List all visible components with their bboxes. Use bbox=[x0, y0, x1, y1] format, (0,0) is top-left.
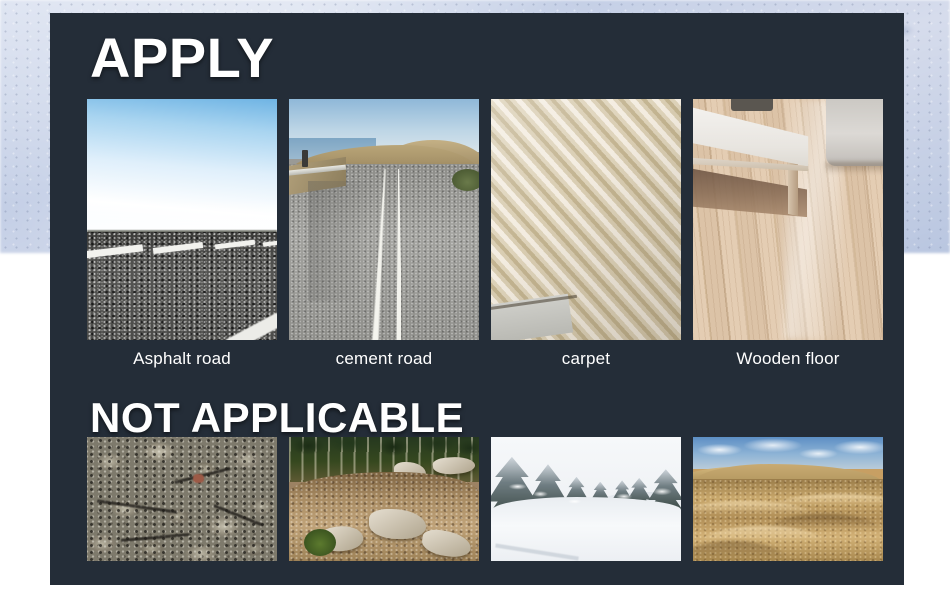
not-applicable-item-rocky-rubble[interactable] bbox=[87, 437, 277, 561]
carpet-photo[interactable] bbox=[491, 99, 681, 340]
apply-item-carpet[interactable]: carpet bbox=[491, 99, 681, 369]
not-applicable-heading: NOT APPLICABLE bbox=[90, 397, 464, 439]
apply-caption-carpet: carpet bbox=[491, 340, 681, 369]
not-applicable-item-sand-dunes[interactable] bbox=[693, 437, 883, 561]
apply-image-row: Asphalt road bbox=[87, 99, 883, 369]
apply-caption-asphalt-road: Asphalt road bbox=[87, 340, 277, 369]
dirt-terrain-photo[interactable] bbox=[289, 437, 479, 561]
apply-caption-cement-road: cement road bbox=[289, 340, 479, 369]
apply-caption-wooden-floor: Wooden floor bbox=[693, 340, 883, 369]
apply-item-wooden-floor[interactable]: Wooden floor bbox=[693, 99, 883, 369]
snowy-forest-photo[interactable] bbox=[491, 437, 681, 561]
sand-dunes-photo[interactable] bbox=[693, 437, 883, 561]
not-applicable-item-snowy-forest[interactable] bbox=[491, 437, 681, 561]
apply-item-asphalt-road[interactable]: Asphalt road bbox=[87, 99, 277, 369]
product-detail-banner: APPLY Asphalt road bbox=[0, 0, 950, 602]
apply-heading: APPLY bbox=[90, 30, 274, 86]
apply-item-cement-road[interactable]: cement road bbox=[289, 99, 479, 369]
wooden-floor-photo[interactable] bbox=[693, 99, 883, 340]
not-applicable-image-row bbox=[87, 437, 883, 561]
asphalt-road-photo[interactable] bbox=[87, 99, 277, 340]
cement-road-photo[interactable] bbox=[289, 99, 479, 340]
not-applicable-item-dirt-terrain[interactable] bbox=[289, 437, 479, 561]
dark-panel: APPLY Asphalt road bbox=[50, 13, 904, 585]
rocky-rubble-photo[interactable] bbox=[87, 437, 277, 561]
